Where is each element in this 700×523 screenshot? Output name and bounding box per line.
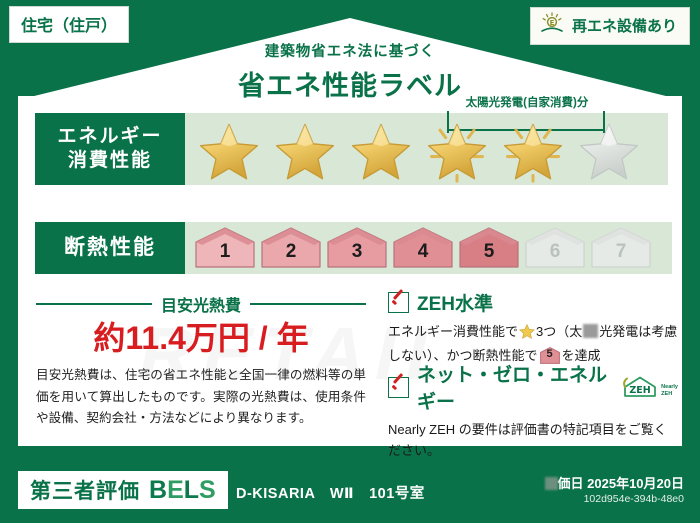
insulation-level-number: 3 <box>352 241 363 270</box>
evaluation-date-prefix-rest: 価日 <box>558 476 584 491</box>
insulation-performance-row: 断熱性能 1 2 3 4 5 6 7 <box>35 222 672 274</box>
insulation-level-filled: 5 <box>457 226 521 270</box>
zeh-desc-part1: エネルギー消費性能で <box>388 324 518 339</box>
insulation-level-number: 6 <box>550 241 561 270</box>
utility-cost-note: 目安光熱費は、住宅の省エネ性能と全国一律の燃料等の単価を用いて算出したものです。… <box>36 365 366 430</box>
zeh-desc-star-count: 3つ（太 <box>536 324 582 339</box>
bels-letter: S <box>199 476 216 504</box>
renewable-badge-label: 再エネ設備あり <box>572 15 677 36</box>
house-type-chip: 住宅（住戸） <box>9 6 129 43</box>
star-empty-icon <box>573 115 645 183</box>
bels-letter: E <box>167 476 184 504</box>
insulation-level-number: 7 <box>616 241 627 270</box>
star-filled-icon <box>269 115 341 183</box>
zeh-house-logo-icon: ZEH Nearly ZEH <box>621 375 678 399</box>
energy-row-label: エネルギー 消費性能 <box>35 113 185 185</box>
insulation-level-empty: 6 <box>523 226 587 270</box>
third-party-label: 第三者評価 <box>30 475 140 505</box>
insulation-level-number: 4 <box>418 241 429 270</box>
insulation-level-number: 1 <box>220 241 231 270</box>
insulation-level-filled: 3 <box>325 226 389 270</box>
net-zero-energy-block: ネット・ゼロ・エネルギー ZEH Nearly ZEH Nearly ZEH の… <box>388 360 678 461</box>
insulation-level-number: 5 <box>484 241 495 270</box>
cost-heading-rule-right <box>250 303 366 305</box>
zeh-logo-sub-line2: ZEH <box>661 391 672 397</box>
star-filled-icon <box>421 115 493 183</box>
svg-text:ZEH: ZEH <box>630 385 651 396</box>
svg-text:E: E <box>550 19 555 27</box>
energy-row-label-line2: 消費性能 <box>68 149 152 173</box>
net-zero-title: ネット・ゼロ・エネルギー <box>417 360 609 414</box>
star-filled-icon <box>193 115 265 183</box>
insulation-level-scale: 1 2 3 4 5 6 7 <box>193 226 653 270</box>
zeh-logo-sub: Nearly ZEH <box>661 384 678 399</box>
evaluation-id: 102d954e-394b-48e0 <box>584 493 684 505</box>
evaluation-date: 価日 2025年10月20日 <box>545 473 684 492</box>
net-zero-title-row: ネット・ゼロ・エネルギー ZEH Nearly ZEH <box>388 360 678 414</box>
redacted-character <box>545 477 558 490</box>
energy-performance-label: RETAIL 住宅（住戸） E 再エネ設備あり 建築物省エネ法に基づく 省エネ <box>0 0 700 523</box>
bels-letter: B <box>149 476 167 504</box>
insulation-level-filled: 4 <box>391 226 455 270</box>
insulation-row-label: 断熱性能 <box>35 222 185 274</box>
star-filled-icon <box>345 115 417 183</box>
zeh-standard-title: ZEH水準 <box>417 289 493 316</box>
check-icon <box>388 377 409 398</box>
bels-certification-plate: 第三者評価 BELS <box>18 471 228 509</box>
cost-heading-rule-left <box>36 303 152 305</box>
zeh-standard-block: ZEH水準 エネルギー消費性能で3つ（太光発電は考慮しない）、かつ断熱性能で5を… <box>388 289 678 366</box>
star-filled-icon <box>497 115 569 183</box>
utility-cost-value: 約11.4万円 / 年 <box>36 313 366 359</box>
property-name: D-KISARIA WⅡ 101号室 <box>236 482 425 503</box>
energy-row-label-line1: エネルギー <box>57 125 162 149</box>
zeh-standard-title-row: ZEH水準 <box>388 289 678 316</box>
inline-star-icon <box>519 324 535 345</box>
solar-sun-icon: E <box>539 12 565 39</box>
insulation-levels-panel: 1 2 3 4 5 6 7 <box>185 222 672 274</box>
net-zero-description: Nearly ZEH の要件は評価書の特記項目をご覧ください。 <box>388 419 678 461</box>
insulation-level-empty: 7 <box>589 226 653 270</box>
redacted-character <box>583 324 598 338</box>
bels-letter: L <box>184 476 199 504</box>
zeh-logo-sub-line1: Nearly <box>661 384 678 390</box>
energy-star-rating <box>193 115 645 183</box>
insulation-level-filled: 2 <box>259 226 323 270</box>
energy-performance-row: エネルギー 消費性能 太陽光発電(自家消費)分 <box>35 113 668 185</box>
insulation-level-number: 2 <box>286 241 297 270</box>
footer-bar: 第三者評価 BELS D-KISARIA WⅡ 101号室 価日 2025年10… <box>0 461 700 523</box>
insulation-level-filled: 1 <box>193 226 257 270</box>
evaluation-date-value: 2025年10月20日 <box>587 476 684 491</box>
solar-bracket-label: 太陽光発電(自家消費)分 <box>431 94 623 110</box>
title-subtitle: 建築物省エネ法に基づく <box>0 40 700 61</box>
bels-logo: BELS <box>149 476 216 505</box>
energy-stars-panel: 太陽光発電(自家消費)分 <box>185 113 668 185</box>
check-icon <box>388 292 409 313</box>
insulation-row-label-text: 断熱性能 <box>64 235 156 261</box>
